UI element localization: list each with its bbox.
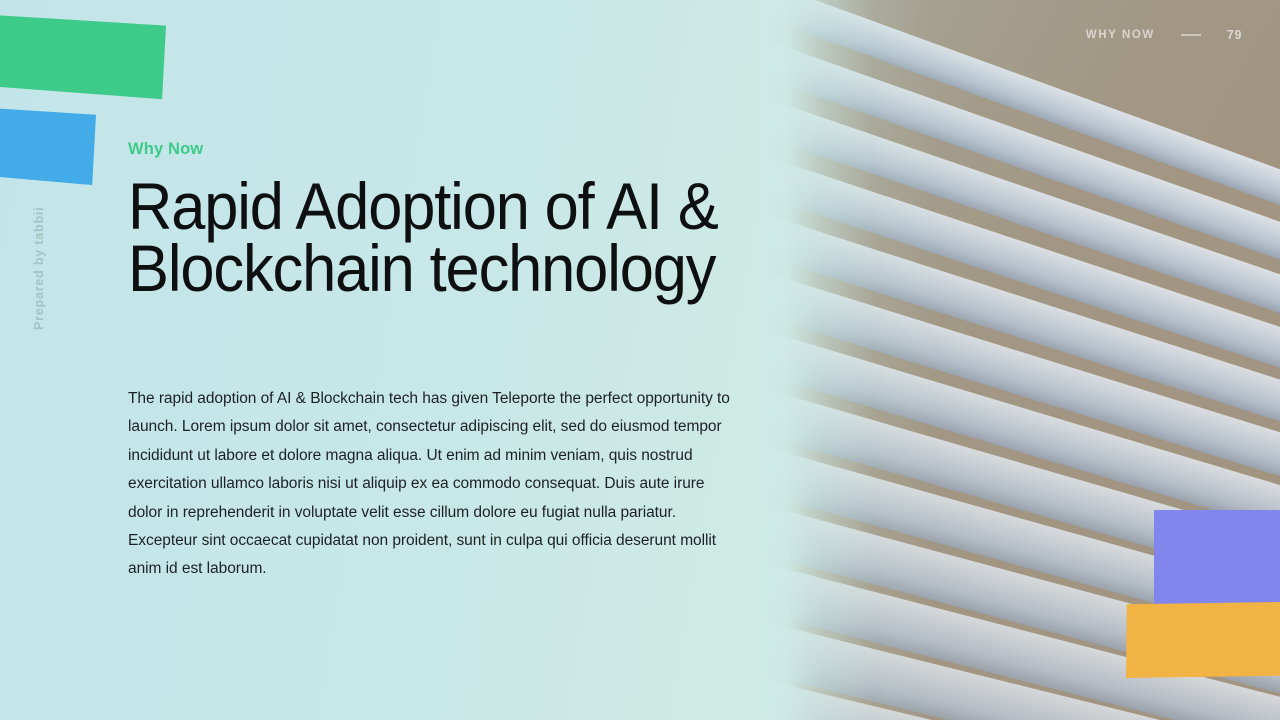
header-section-label: WHY NOW — [1086, 29, 1155, 41]
section-eyebrow: Why Now — [128, 140, 768, 159]
slide-body-paragraph: The rapid adoption of AI & Blockchain te… — [128, 385, 736, 584]
slide-page-number: 79 — [1227, 28, 1242, 42]
slide-content: Why Now Rapid Adoption of AI & Blockchai… — [128, 140, 768, 299]
slide-header: WHY NOW 79 — [1086, 28, 1242, 42]
decor-green-parallelogram — [0, 14, 166, 100]
decor-purple-rectangle — [1154, 510, 1280, 604]
slide-title: Rapid Adoption of AI & Blockchain techno… — [128, 175, 779, 299]
decor-orange-parallelogram — [1126, 602, 1280, 678]
prepared-by-label: Prepared by tabbii — [32, 207, 46, 330]
decor-blue-parallelogram — [0, 107, 96, 186]
presentation-slide: WHY NOW 79 Prepared by tabbii Why Now Ra… — [0, 0, 1280, 720]
header-divider — [1181, 34, 1201, 36]
